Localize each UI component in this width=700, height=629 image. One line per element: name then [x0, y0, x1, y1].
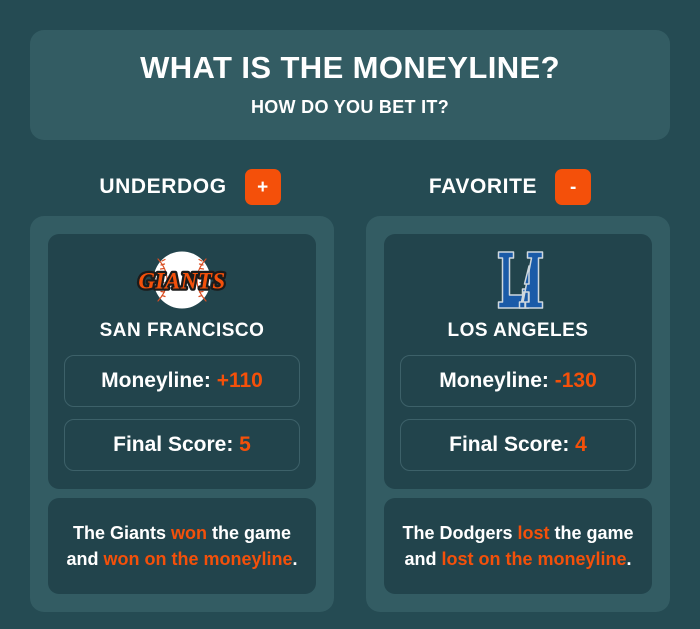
- note-highlight-2: won on the moneyline: [103, 549, 292, 569]
- team-column-underdog: GIANTS GIANTS SAN FRANCISCO Moneyline: +…: [30, 216, 334, 612]
- final-score-label: Final Score:: [449, 433, 569, 456]
- team-city-label: LOS ANGELES: [448, 320, 589, 342]
- page-subtitle: HOW DO YOU BET IT?: [251, 97, 449, 118]
- note-highlight-1: lost: [517, 523, 549, 543]
- sf-giants-logo-icon: GIANTS GIANTS: [136, 248, 228, 312]
- final-score-label: Final Score:: [113, 433, 233, 456]
- plus-sign-badge: +: [245, 169, 281, 205]
- role-label-row: UNDERDOG + FAVORITE -: [30, 164, 670, 210]
- team-card-los-angeles: LOS ANGELES Moneyline: -130 Final Score:…: [384, 234, 652, 489]
- page-title: WHAT IS THE MONEYLINE?: [140, 52, 560, 85]
- note-highlight-1: won: [171, 523, 207, 543]
- la-dodgers-logo-icon: [489, 248, 547, 312]
- role-label-underdog-text: UNDERDOG: [99, 175, 226, 199]
- role-label-underdog: UNDERDOG +: [30, 164, 350, 210]
- outcome-note-card-favorite: The Dodgers lost the game and lost on th…: [384, 498, 652, 594]
- final-score-stat-box: Final Score: 5: [64, 419, 300, 471]
- role-label-favorite: FAVORITE -: [350, 164, 670, 210]
- note-text-part1: The Dodgers: [402, 523, 517, 543]
- moneyline-stat-box: Moneyline: +110: [64, 355, 300, 407]
- moneyline-value: +110: [217, 369, 263, 392]
- team-card-san-francisco: GIANTS GIANTS SAN FRANCISCO Moneyline: +…: [48, 234, 316, 489]
- moneyline-stat-box: Moneyline: -130: [400, 355, 636, 407]
- team-column-favorite: LOS ANGELES Moneyline: -130 Final Score:…: [366, 216, 670, 612]
- note-text-part3: .: [627, 549, 632, 569]
- note-text-part1: The Giants: [73, 523, 171, 543]
- final-score-stat-box: Final Score: 4: [400, 419, 636, 471]
- final-score-value: 4: [575, 433, 587, 456]
- moneyline-value: -130: [555, 369, 597, 392]
- moneyline-label: Moneyline:: [439, 369, 549, 392]
- note-text-part3: .: [293, 549, 298, 569]
- role-label-favorite-text: FAVORITE: [429, 175, 537, 199]
- minus-sign-badge: -: [555, 169, 591, 205]
- note-highlight-2: lost on the moneyline: [441, 549, 626, 569]
- moneyline-label: Moneyline:: [101, 369, 211, 392]
- svg-text:GIANTS: GIANTS: [138, 269, 225, 294]
- final-score-value: 5: [239, 433, 251, 456]
- header-card: WHAT IS THE MONEYLINE? HOW DO YOU BET IT…: [30, 30, 670, 140]
- team-columns: GIANTS GIANTS SAN FRANCISCO Moneyline: +…: [30, 216, 670, 612]
- outcome-note-card-underdog: The Giants won the game and won on the m…: [48, 498, 316, 594]
- team-city-label: SAN FRANCISCO: [100, 320, 265, 342]
